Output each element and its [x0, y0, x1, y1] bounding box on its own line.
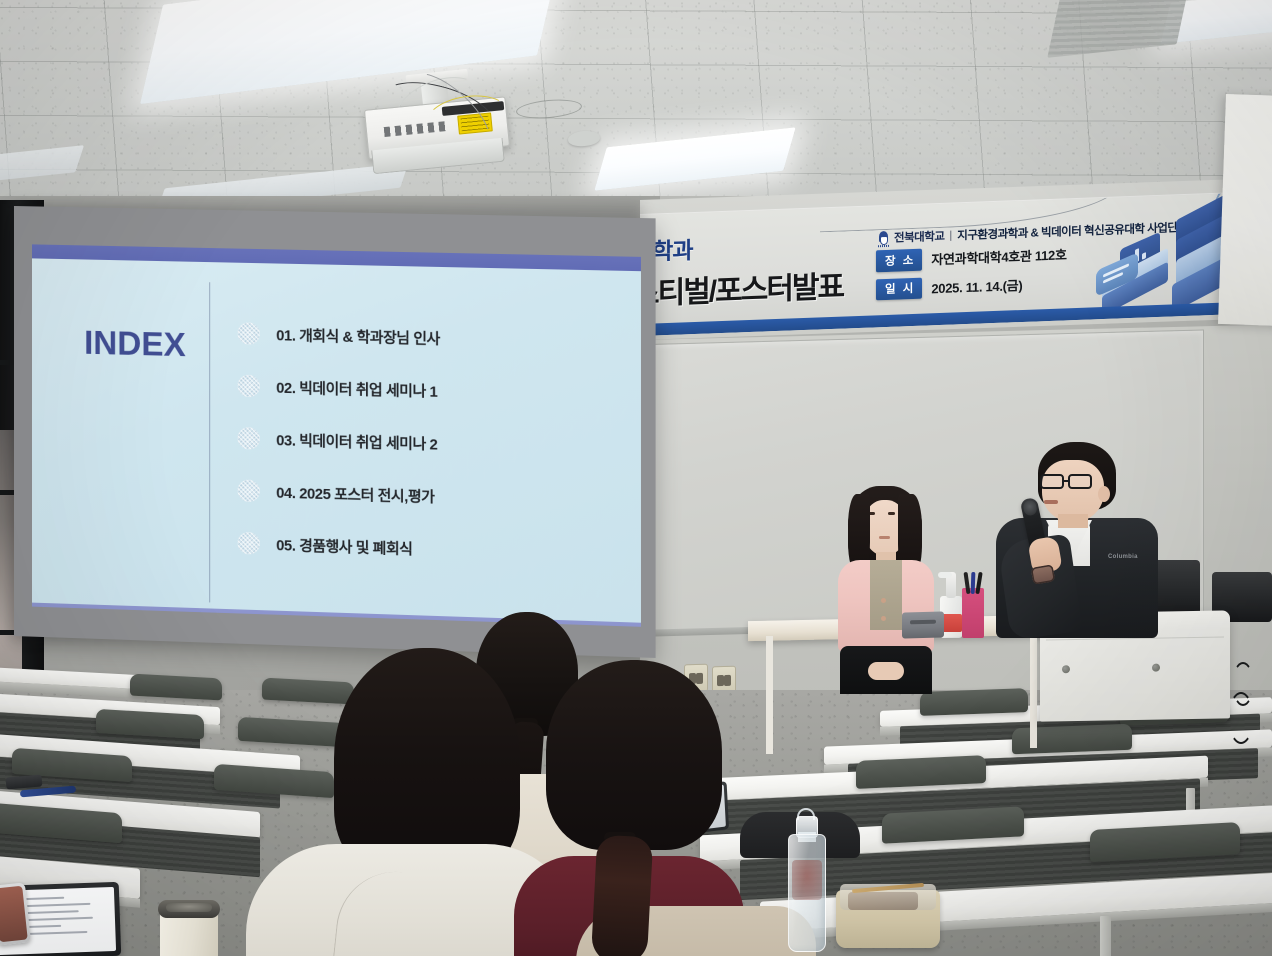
- slide-header-bar: 전북대학교 JEONBUK NATIONAL UNIVERSITY: [32, 244, 641, 271]
- index-item: 01. 개회식 & 학과장님 인사: [238, 311, 629, 365]
- jacket-brand-logo: Columbia: [1108, 554, 1138, 560]
- bullet-dot-icon: [238, 375, 260, 398]
- bullet-dot-icon: [238, 479, 260, 502]
- podium-latch: [1062, 665, 1070, 673]
- index-item: 03. 빅데이터 취업 세미나 2: [238, 416, 629, 471]
- lecture-hall-photo: 과학과 스티벌/포스터발표 전북대학교 | 지구환경과학과 & 빅데이터 혁신공…: [0, 0, 1272, 956]
- presenter-seated-woman: [836, 486, 936, 686]
- logo-english-name: JEONBUK NATIONAL UNIVERSITY: [517, 247, 637, 255]
- student-right-ponytail: [520, 660, 770, 956]
- banner-row-venue: 장 소 자연과학대학4호관 112호: [876, 243, 1067, 271]
- venue-tag: 장 소: [876, 249, 922, 272]
- food-container: [836, 890, 940, 948]
- index-item-label: 01. 개회식 & 학과장님 인사: [276, 324, 440, 349]
- bullet-dot-icon: [238, 532, 260, 555]
- water-bottle: [786, 806, 828, 952]
- jbnu-emblem-icon: [486, 244, 509, 254]
- ponytail: [591, 835, 654, 956]
- desk-leg: [1100, 916, 1111, 956]
- banner-separator: |: [949, 230, 952, 242]
- hands: [868, 662, 904, 680]
- glasses-icon: [1040, 474, 1102, 490]
- slide-title: INDEX: [84, 324, 186, 365]
- index-item-label: 02. 빅데이터 취업 세미나 1: [276, 376, 437, 401]
- index-item-label: 05. 경품행사 및 폐회식: [276, 533, 412, 558]
- banner-title-line1: 과학과: [640, 225, 862, 267]
- bullet-dot-icon: [238, 427, 260, 450]
- venue-value: 자연과학대학4호관 112호: [931, 245, 1066, 269]
- podium-latch: [1152, 664, 1160, 672]
- cardigan-button: [881, 598, 886, 603]
- banner-university-name: 전북대학교: [894, 228, 944, 246]
- index-item: 02. 빅데이터 취업 세미나 1: [238, 363, 629, 418]
- presenter-speaking-man: Columbia: [986, 442, 1162, 632]
- tumbler-cup: [160, 908, 218, 956]
- face: [1042, 460, 1104, 522]
- mouth: [1044, 500, 1058, 504]
- neck: [1058, 514, 1088, 528]
- date-tag: 일 시: [876, 277, 922, 300]
- event-banner: 과학과 스티벌/포스터발표 전북대학교 | 지구환경과학과 & 빅데이터 혁신공…: [640, 191, 1272, 336]
- mouth: [879, 536, 890, 539]
- ceiling-projector: [366, 78, 512, 170]
- index-item-label: 04. 2025 포스터 전시,평가: [276, 481, 434, 507]
- pen-cup: [962, 588, 984, 638]
- chair: [856, 755, 986, 789]
- chair: [920, 688, 1028, 716]
- table-leg: [1030, 630, 1037, 748]
- presentation-slide: 전북대학교 JEONBUK NATIONAL UNIVERSITY INDEX …: [32, 244, 641, 626]
- banner-detail-rows: 장 소 자연과학대학4호관 112호 일 시 2025. 11. 14.(금): [876, 243, 1067, 307]
- wall-white-panel: [1218, 94, 1272, 328]
- bullet-dot-icon: [238, 322, 260, 345]
- jbnu-emblem-icon: [878, 230, 889, 245]
- banner-title-line2: 스티벌/포스터발표: [640, 261, 862, 313]
- slide-index-list: 01. 개회식 & 학과장님 인사 02. 빅데이터 취업 세미나 1 03. …: [238, 311, 629, 585]
- index-item: 04. 2025 포스터 전시,평가: [238, 468, 629, 524]
- slide-vertical-divider: [209, 282, 210, 602]
- index-item-label: 03. 빅데이터 취업 세미나 2: [276, 429, 437, 455]
- cable-coil: [1228, 692, 1254, 744]
- index-item: 05. 경품행사 및 폐회식: [238, 521, 629, 578]
- date-value: 2025. 11. 14.(금): [931, 275, 1022, 297]
- banner-title-block: 과학과 스티벌/포스터발표: [640, 225, 862, 313]
- hair: [546, 660, 722, 850]
- eye: [888, 512, 895, 515]
- cardigan-button: [881, 616, 886, 621]
- projection-screen: 전북대학교 JEONBUK NATIONAL UNIVERSITY INDEX …: [14, 206, 656, 658]
- tissue-box: [902, 611, 944, 638]
- banner-row-date: 일 시 2025. 11. 14.(금): [876, 272, 1067, 300]
- logo-korean-name: 전북대학교: [517, 244, 637, 246]
- inner-top: [870, 560, 902, 630]
- jbnu-logo: 전북대학교 JEONBUK NATIONAL UNIVERSITY: [486, 244, 637, 256]
